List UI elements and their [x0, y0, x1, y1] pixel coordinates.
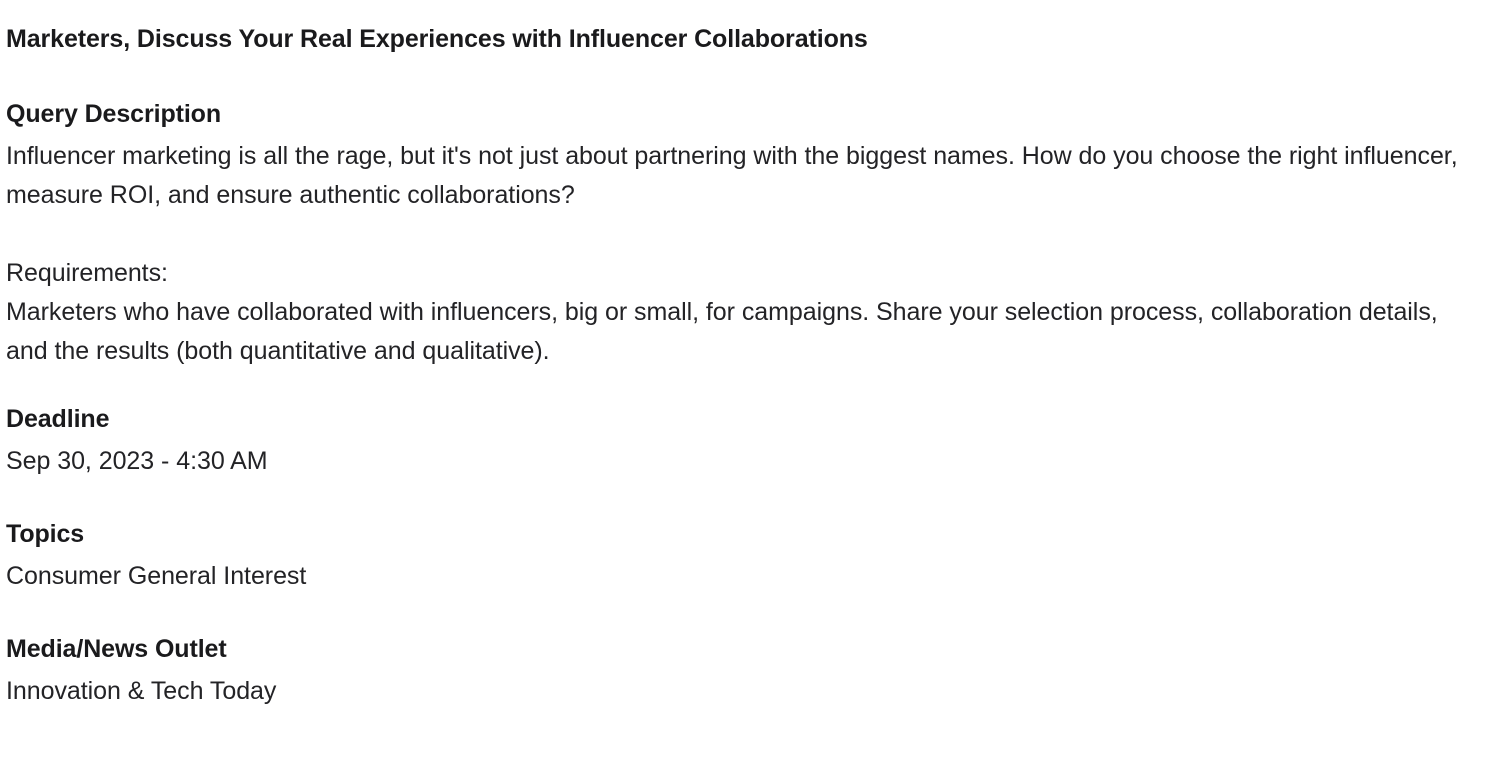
topics-value: Consumer General Interest — [6, 557, 1473, 596]
deadline-section: Deadline Sep 30, 2023 - 4:30 AM — [6, 403, 1473, 481]
topics-section: Topics Consumer General Interest — [6, 518, 1473, 596]
page-title: Marketers, Discuss Your Real Experiences… — [6, 22, 1473, 56]
deadline-value: Sep 30, 2023 - 4:30 AM — [6, 442, 1473, 481]
requirements-label: Requirements: — [6, 254, 1473, 293]
requirements-text: Marketers who have collaborated with inf… — [6, 293, 1473, 371]
query-description-body: Influencer marketing is all the rage, bu… — [6, 137, 1473, 371]
media-news-outlet-heading: Media/News Outlet — [6, 633, 1473, 666]
paragraph-spacer — [6, 215, 1473, 254]
query-description-paragraph: Influencer marketing is all the rage, bu… — [6, 137, 1473, 215]
media-news-outlet-value: Innovation & Tech Today — [6, 672, 1473, 711]
query-description-heading: Query Description — [6, 98, 1473, 131]
media-news-outlet-section: Media/News Outlet Innovation & Tech Toda… — [6, 633, 1473, 711]
query-detail-page: Marketers, Discuss Your Real Experiences… — [0, 0, 1485, 767]
deadline-heading: Deadline — [6, 403, 1473, 436]
topics-heading: Topics — [6, 518, 1473, 551]
query-description-section: Query Description Influencer marketing i… — [6, 98, 1473, 371]
